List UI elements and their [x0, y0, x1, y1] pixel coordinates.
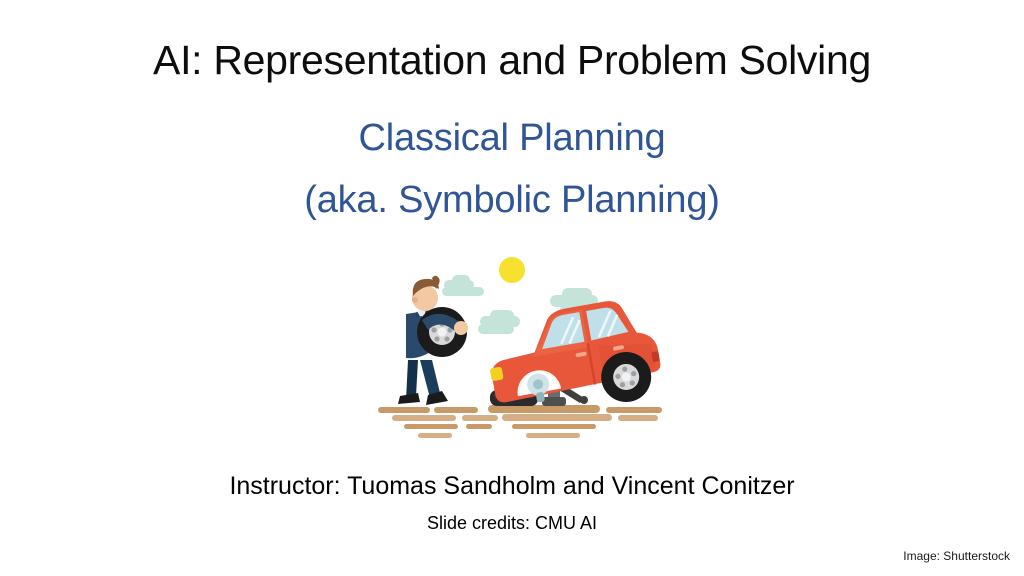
- page-title: AI: Representation and Problem Solving: [0, 38, 1024, 83]
- instructor-line: Instructor: Tuomas Sandholm and Vincent …: [0, 472, 1024, 501]
- cloud-top-left-icon: [442, 275, 484, 296]
- image-credit-label: Image: Shutterstock: [903, 549, 1010, 563]
- ground-strokes: [378, 405, 662, 438]
- illustration-car-repair: [370, 248, 670, 448]
- subtitle-line-2: (aka. Symbolic Planning): [0, 170, 1024, 232]
- subtitle-block: Classical Planning (aka. Symbolic Planni…: [0, 108, 1024, 231]
- cloud-mid-left-icon: [478, 310, 520, 334]
- slide-canvas: AI: Representation and Problem Solving C…: [0, 0, 1024, 576]
- sun-icon: [499, 257, 525, 283]
- subtitle-line-1: Classical Planning: [0, 108, 1024, 170]
- slide-credits-line: Slide credits: CMU AI: [0, 513, 1024, 534]
